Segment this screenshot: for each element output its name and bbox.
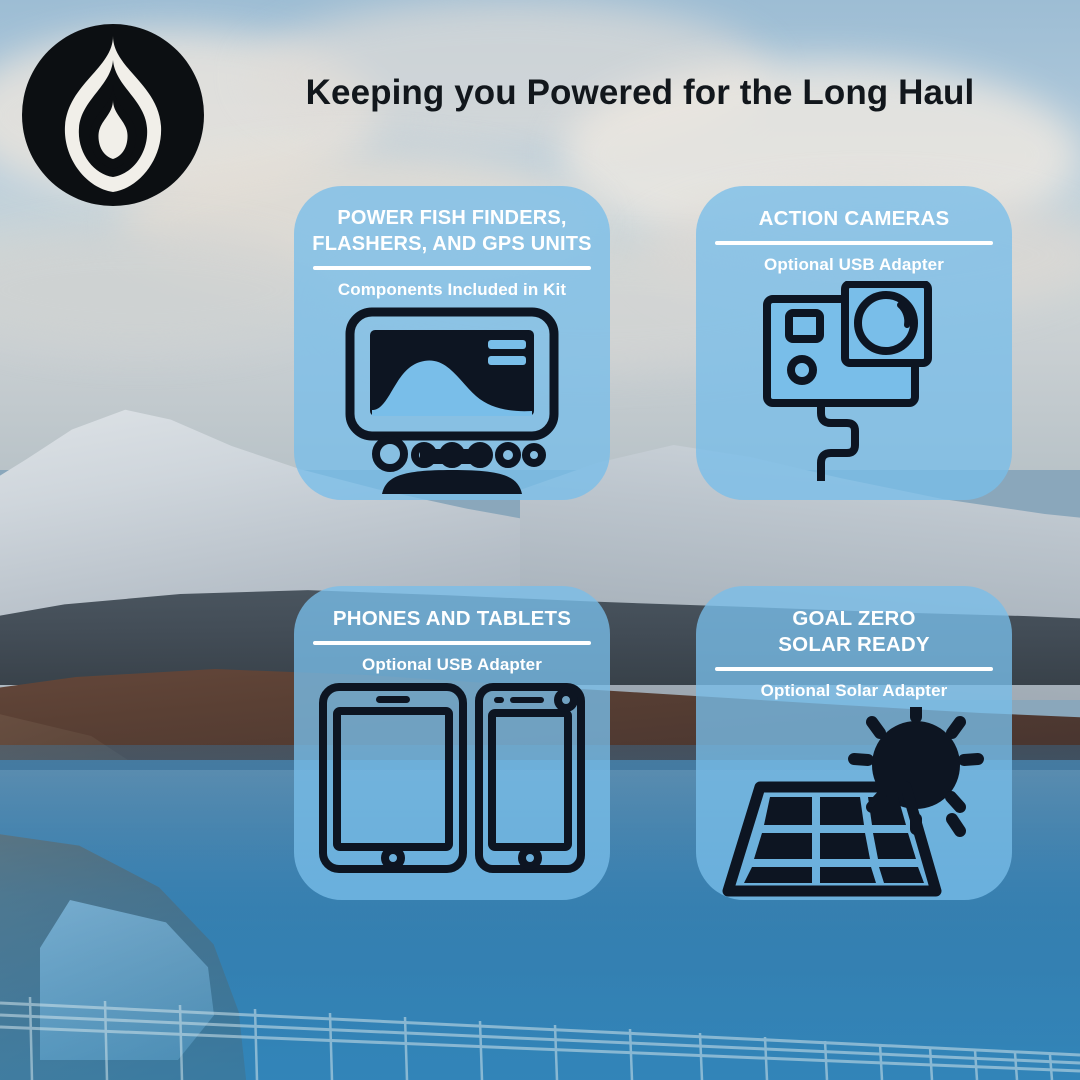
- card-phones-tablets[interactable]: PHONES AND TABLETS Optional USB Adapter: [294, 586, 610, 900]
- card-title: ACTION CAMERAS: [714, 206, 994, 232]
- phone-tablet-icon: [312, 681, 592, 873]
- card-subtitle: Optional USB Adapter: [312, 655, 592, 675]
- card-title: POWER FISH FINDERS, FLASHERS, AND GPS UN…: [312, 206, 592, 257]
- card-divider: [715, 241, 993, 245]
- card-title: PHONES AND TABLETS: [312, 606, 592, 632]
- guardrail: [0, 985, 1080, 1080]
- page-title: Keeping you Powered for the Long Haul: [240, 73, 1040, 113]
- card-title: GOAL ZERO SOLAR READY: [714, 606, 994, 658]
- card-divider: [715, 667, 993, 671]
- card-divider: [313, 266, 591, 270]
- card-divider: [313, 641, 591, 645]
- flame-droplet-logo: [20, 22, 206, 208]
- card-goal-zero-solar[interactable]: GOAL ZERO SOLAR READY Optional Solar Ada…: [696, 586, 1012, 900]
- card-subtitle: Optional Solar Adapter: [714, 681, 994, 701]
- fish-finder-icon: [312, 306, 592, 496]
- action-camera-icon: [714, 281, 994, 481]
- card-action-cameras[interactable]: ACTION CAMERAS Optional USB Adapter: [696, 186, 1012, 500]
- card-subtitle: Components Included in Kit: [312, 280, 592, 300]
- solar-panel-sun-icon: [714, 707, 994, 897]
- infographic-canvas: Keeping you Powered for the Long Haul PO…: [0, 0, 1080, 1080]
- card-subtitle: Optional USB Adapter: [714, 255, 994, 275]
- card-fish-finders[interactable]: POWER FISH FINDERS, FLASHERS, AND GPS UN…: [294, 186, 610, 500]
